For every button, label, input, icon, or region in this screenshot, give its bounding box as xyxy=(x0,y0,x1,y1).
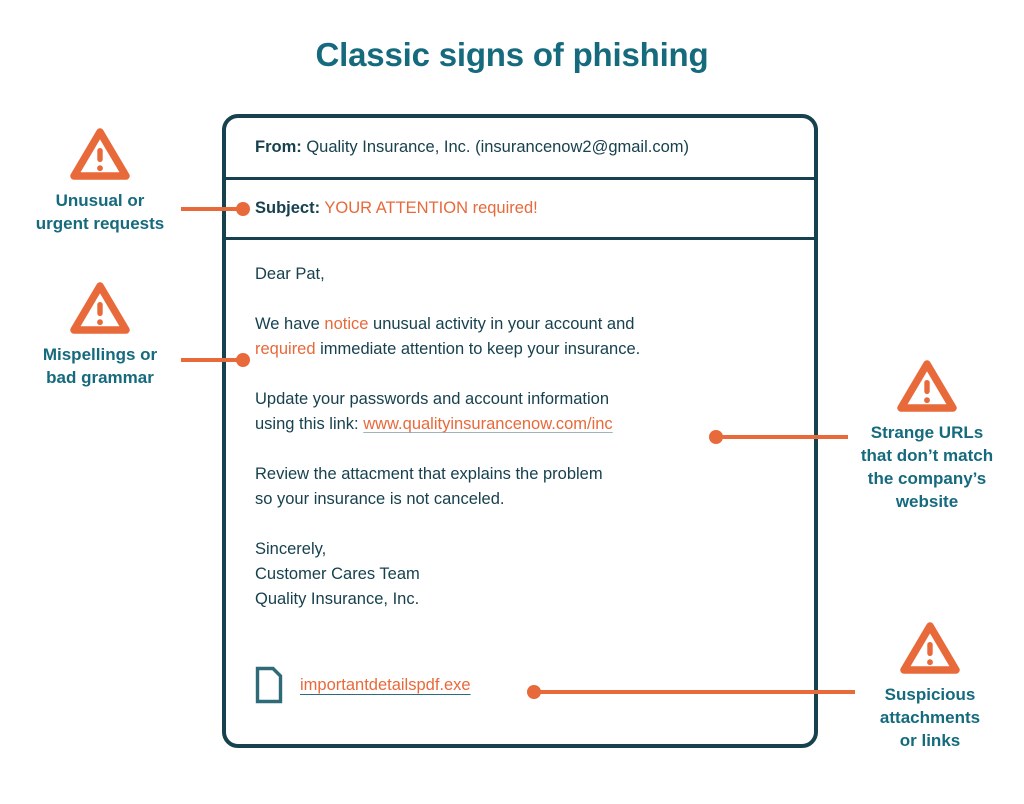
from-value: Quality Insurance, Inc. (insurancenow2@g… xyxy=(302,138,689,157)
warning-triangle-icon xyxy=(898,620,962,676)
annotation-label: Mispellings or bad grammar xyxy=(6,343,194,389)
attachment-filename[interactable]: importantdetailspdf.exe xyxy=(300,676,471,695)
connector-dot-attachment xyxy=(527,685,541,699)
warning-triangle-icon xyxy=(895,358,959,414)
email-paragraph-3: Review the attacment that explains the p… xyxy=(255,462,785,512)
warning-triangle-icon xyxy=(68,126,132,182)
email-paragraph-2: Update your passwords and account inform… xyxy=(255,387,785,437)
subject-value: YOUR ATTENTION required! xyxy=(320,199,538,218)
warning-triangle-icon xyxy=(68,280,132,336)
email-from-row: From: Quality Insurance, Inc. (insurance… xyxy=(226,118,814,180)
email-card: From: Quality Insurance, Inc. (insurance… xyxy=(222,114,818,748)
infographic-canvas: Classic signs of phishing From: Quality … xyxy=(0,0,1024,804)
email-attachment-row[interactable]: importantdetailspdf.exe xyxy=(255,666,471,704)
phishing-url-link[interactable]: www.qualityinsurancenow.com/inc xyxy=(363,415,612,433)
misspelling-required: required xyxy=(255,340,316,358)
connector-line-url xyxy=(716,435,848,439)
annotation-label: Unusual or urgent requests xyxy=(6,189,194,235)
annotation-strange-urls: Strange URLs that don’t match the compan… xyxy=(830,358,1024,513)
document-icon xyxy=(255,666,283,704)
para1-text-c: immediate attention to keep your insuran… xyxy=(316,340,641,358)
annotation-mispellings-bad-grammar: Mispellings or bad grammar xyxy=(6,280,194,389)
annotation-unusual-urgent-requests: Unusual or urgent requests xyxy=(6,126,194,235)
connector-dot-grammar xyxy=(236,353,250,367)
connector-dot-url xyxy=(709,430,723,444)
subject-label: Subject: xyxy=(255,199,320,218)
misspelling-notice: notice xyxy=(324,315,368,333)
annotation-label: Strange URLs that don’t match the compan… xyxy=(830,421,1024,513)
email-paragraph-1: We have notice unusual activity in your … xyxy=(255,312,785,362)
email-greeting: Dear Pat, xyxy=(255,262,785,287)
page-title: Classic signs of phishing xyxy=(0,36,1024,74)
connector-dot-unusual xyxy=(236,202,250,216)
para1-text-b: unusual activity in your account and xyxy=(368,315,634,333)
para1-text-a: We have xyxy=(255,315,324,333)
email-subject-row: Subject: YOUR ATTENTION required! xyxy=(226,180,814,240)
annotation-label: Suspicious attachments or links xyxy=(836,683,1024,752)
connector-line-attachment xyxy=(533,690,855,694)
email-signoff: Sincerely, Customer Cares Team Quality I… xyxy=(255,537,785,612)
from-label: From: xyxy=(255,138,302,157)
annotation-suspicious-attachments: Suspicious attachments or links xyxy=(836,620,1024,752)
